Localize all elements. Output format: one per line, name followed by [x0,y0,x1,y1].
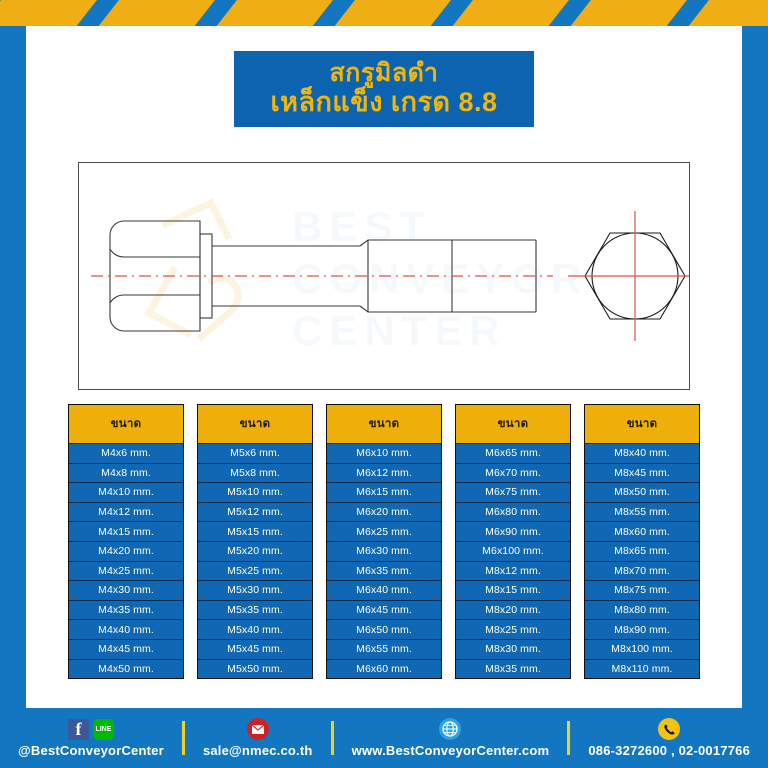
table-row[interactable]: M8x55 mm. [585,502,699,522]
table-row[interactable]: M6x50 mm. [327,619,441,639]
footer-divider [182,721,185,755]
table-row[interactable]: M5x20 mm. [198,541,312,561]
phone-icon-wrap [658,718,680,740]
table-row[interactable]: M8x35 mm. [456,659,570,679]
table-row[interactable]: M6x25 mm. [327,521,441,541]
table-row[interactable]: M5x10 mm. [198,482,312,502]
line-icon[interactable]: LINE [93,719,114,740]
size-table-header: ขนาด [198,405,312,443]
page-title-line-2: เหล็กแข็ง เกรด 8.8 [270,88,497,117]
table-row[interactable]: M8x45 mm. [585,463,699,483]
size-table-column-5: ขนาด M8x40 mm. M8x45 mm. M8x50 mm. M8x55… [584,404,700,679]
table-row[interactable]: M8x20 mm. [456,600,570,620]
table-row[interactable]: M8x90 mm. [585,619,699,639]
size-tables: ขนาด M4x6 mm. M4x8 mm. M4x10 mm. M4x12 m… [68,404,700,679]
hex-bolt-drawing: BEST CONVEYOR CENTER [79,163,689,389]
table-row[interactable]: M6x45 mm. [327,600,441,620]
table-row[interactable]: M5x6 mm. [198,443,312,463]
footer-divider [331,721,334,755]
mail-icon[interactable] [247,718,269,740]
table-row[interactable]: M5x12 mm. [198,502,312,522]
table-row[interactable]: M6x15 mm. [327,482,441,502]
table-row[interactable]: M6x65 mm. [456,443,570,463]
table-row[interactable]: M6x60 mm. [327,659,441,679]
table-row[interactable]: M4x25 mm. [69,561,183,581]
table-row[interactable]: M8x50 mm. [585,482,699,502]
footer-phone[interactable]: 086-3272600 , 02-0017766 [588,718,750,758]
email-address[interactable]: sale@nmec.co.th [203,743,313,758]
table-row[interactable]: M6x80 mm. [456,502,570,522]
table-row[interactable]: M8x65 mm. [585,541,699,561]
size-table-column-4: ขนาด M6x65 mm. M6x70 mm. M6x75 mm. M6x80… [455,404,571,679]
table-row[interactable]: M8x110 mm. [585,659,699,679]
decorative-stripe [0,0,106,26]
table-row[interactable]: M8x60 mm. [585,521,699,541]
table-row[interactable]: M5x45 mm. [198,639,312,659]
facebook-icon[interactable]: f [68,719,89,740]
table-row[interactable]: M5x25 mm. [198,561,312,581]
table-row[interactable]: M5x35 mm. [198,600,312,620]
table-row[interactable]: M8x25 mm. [456,619,570,639]
size-table-header: ขนาด [456,405,570,443]
table-row[interactable]: M8x80 mm. [585,600,699,620]
table-row[interactable]: M4x40 mm. [69,619,183,639]
table-row[interactable]: M4x15 mm. [69,521,183,541]
facebook-handle[interactable]: @BestConveyorCenter [18,743,164,758]
table-row[interactable]: M5x15 mm. [198,521,312,541]
decorative-stripe [678,0,768,26]
table-row[interactable]: M5x40 mm. [198,619,312,639]
globe-icon-wrap [439,718,461,740]
footer-divider [567,721,570,755]
table-row[interactable]: M8x12 mm. [456,561,570,581]
table-row[interactable]: M8x40 mm. [585,443,699,463]
table-row[interactable]: M4x30 mm. [69,580,183,600]
table-row[interactable]: M6x90 mm. [456,521,570,541]
size-table-column-3: ขนาด M6x10 mm. M6x12 mm. M6x15 mm. M6x20… [326,404,442,679]
svg-text:CONVEYOR: CONVEYOR [292,255,588,302]
table-row[interactable]: M4x45 mm. [69,639,183,659]
table-row[interactable]: M4x50 mm. [69,659,183,679]
phone-numbers[interactable]: 086-3272600 , 02-0017766 [588,743,750,758]
globe-glyph [442,721,458,737]
size-table-header: ขนาด [585,405,699,443]
table-row[interactable]: M6x12 mm. [327,463,441,483]
page-title-line-1: สกรูมิลดำ [330,60,439,87]
table-row[interactable]: M8x30 mm. [456,639,570,659]
phone-icon[interactable] [658,718,680,740]
table-row[interactable]: M8x70 mm. [585,561,699,581]
table-row[interactable]: M5x50 mm. [198,659,312,679]
email-icon-wrap [247,718,269,740]
bolt-end-view [568,211,689,341]
table-row[interactable]: M6x40 mm. [327,580,441,600]
table-row[interactable]: M4x8 mm. [69,463,183,483]
table-row[interactable]: M8x75 mm. [585,580,699,600]
table-row[interactable]: M6x35 mm. [327,561,441,581]
technical-drawing-panel: BEST CONVEYOR CENTER [78,162,690,390]
table-row[interactable]: M5x30 mm. [198,580,312,600]
size-table-column-1: ขนาด M4x6 mm. M4x8 mm. M4x10 mm. M4x12 m… [68,404,184,679]
table-row[interactable]: M8x15 mm. [456,580,570,600]
decorative-stripe [560,0,697,26]
size-table-header: ขนาด [69,405,183,443]
footer-email[interactable]: sale@nmec.co.th [203,718,313,758]
phone-glyph [663,723,676,736]
table-row[interactable]: M4x35 mm. [69,600,183,620]
poster-canvas: สกรูมิลดำ เหล็กแข็ง เกรด 8.8 BEST CONVEY… [0,0,768,768]
table-row[interactable]: M6x20 mm. [327,502,441,522]
social-icons: f LINE [68,718,114,740]
contact-footer: f LINE @BestConveyorCenter sale@nmec.co.… [0,708,768,768]
table-row[interactable]: M6x70 mm. [456,463,570,483]
mail-glyph [251,724,265,735]
decorative-stripe [324,0,461,26]
table-row[interactable]: M6x55 mm. [327,639,441,659]
watermark: BEST CONVEYOR CENTER [149,203,588,354]
top-stripe-band [0,0,768,26]
decorative-stripe [442,0,579,26]
decorative-stripe [206,0,343,26]
footer-social[interactable]: f LINE @BestConveyorCenter [18,718,164,758]
table-row[interactable]: M8x100 mm. [585,639,699,659]
table-row[interactable]: M6x75 mm. [456,482,570,502]
footer-website[interactable]: www.BestConveyorCenter.com [352,718,550,758]
content-sheet: สกรูมิลดำ เหล็กแข็ง เกรด 8.8 BEST CONVEY… [26,26,742,708]
table-row[interactable]: M4x6 mm. [69,443,183,463]
decorative-stripe [88,0,225,26]
website-url[interactable]: www.BestConveyorCenter.com [352,743,550,758]
table-row[interactable]: M6x100 mm. [456,541,570,561]
size-table-header: ขนาด [327,405,441,443]
globe-icon[interactable] [439,718,461,740]
table-row[interactable]: M4x20 mm. [69,541,183,561]
size-table-column-2: ขนาด M5x6 mm. M5x8 mm. M5x10 mm. M5x12 m… [197,404,313,679]
svg-text:BEST: BEST [292,203,432,250]
table-row[interactable]: M6x10 mm. [327,443,441,463]
table-row[interactable]: M6x30 mm. [327,541,441,561]
table-row[interactable]: M4x10 mm. [69,482,183,502]
table-row[interactable]: M5x8 mm. [198,463,312,483]
svg-text:CENTER: CENTER [292,307,507,354]
title-banner: สกรูมิลดำ เหล็กแข็ง เกรด 8.8 [234,51,534,127]
table-row[interactable]: M4x12 mm. [69,502,183,522]
